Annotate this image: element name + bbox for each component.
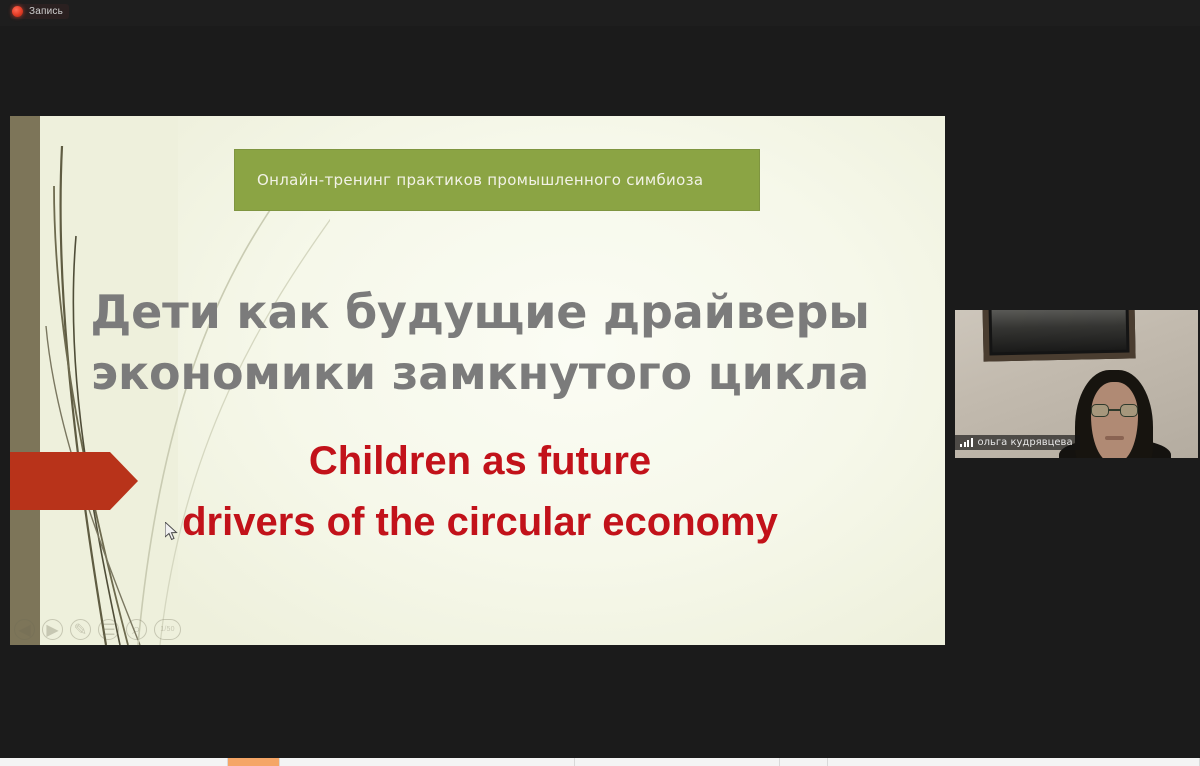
pen-button[interactable]: ✎ <box>70 619 91 640</box>
slide-banner-text: Онлайн-тренинг практиков промышленного с… <box>235 171 703 189</box>
wall-picture-image <box>992 310 1127 352</box>
wall-picture-frame <box>982 310 1135 362</box>
recording-label: Запись <box>29 6 63 17</box>
slide-subheadline-line-2: drivers of the circular economy <box>50 492 910 553</box>
slide-subheadline-line-1: Children as future <box>50 431 910 492</box>
recording-indicator[interactable]: Запись <box>10 4 69 19</box>
taskbar-item-1[interactable] <box>0 758 228 766</box>
slide-player-controls[interactable]: ◀ ▶ ✎ ☰ ⌕ 1/50 <box>14 619 181 640</box>
taskbar-item-4[interactable] <box>575 758 780 766</box>
participant-face <box>1091 382 1138 458</box>
taskbar-item-6[interactable] <box>828 758 1200 766</box>
slide-subtitle-banner: Онлайн-тренинг практиков промышленного с… <box>234 149 760 211</box>
slide-subheadline: Children as future drivers of the circul… <box>50 431 910 553</box>
slide-counter[interactable]: 1/50 <box>154 619 181 640</box>
slide-headline-line-2: экономики замкнутого цикла <box>50 343 910 404</box>
top-status-bar: Запись <box>0 0 1200 26</box>
taskbar-item-active[interactable] <box>228 758 280 766</box>
play-button[interactable]: ▶ <box>42 619 63 640</box>
participant-video-tile[interactable]: ольга кудрявцева <box>955 310 1198 458</box>
mouse-cursor-icon <box>165 522 179 542</box>
previous-slide-button[interactable]: ◀ <box>14 619 35 640</box>
taskbar-item-5[interactable] <box>780 758 828 766</box>
record-dot-icon <box>12 6 23 17</box>
zoom-button[interactable]: ⌕ <box>126 619 147 640</box>
participant-mouth <box>1105 436 1124 440</box>
signal-bars-icon <box>960 438 973 447</box>
desktop-taskbar[interactable] <box>0 758 1200 766</box>
participant-name: ольга кудрявцева <box>978 437 1073 448</box>
taskbar-item-3[interactable] <box>280 758 575 766</box>
shared-slide[interactable]: Онлайн-тренинг практиков промышленного с… <box>10 116 945 645</box>
slide-headline-line-1: Дети как будущие драйверы <box>50 282 910 343</box>
participant-glasses-icon <box>1091 404 1138 417</box>
menu-button[interactable]: ☰ <box>98 619 119 640</box>
conference-screen-share-window: Запись Онлайн-тренинг практиков промышле… <box>0 0 1200 766</box>
participant-name-bar: ольга кудрявцева <box>955 435 1080 450</box>
slide-headline: Дети как будущие драйверы экономики замк… <box>50 282 910 403</box>
